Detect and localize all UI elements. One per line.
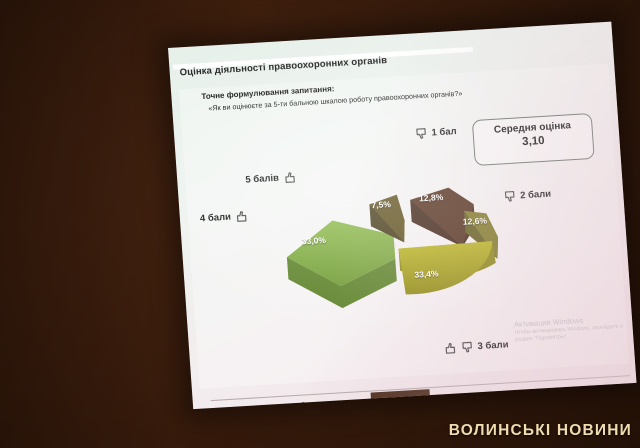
category-text: 4 бали	[200, 212, 232, 225]
category-label-1-bal: 1 бал	[414, 125, 457, 140]
category-text: 5 балів	[245, 173, 279, 186]
slide-body: Точне формулювання запитання: «Як ви оці…	[179, 64, 629, 389]
slice-label-4-bali: 33,0%	[301, 235, 326, 246]
category-text: 1 бал	[431, 126, 457, 138]
thumbs-up-icon	[234, 210, 248, 224]
slice-label-3-bali: 33,4%	[414, 268, 439, 279]
pie-chart: 33,0% 7,5% 12,8% 12,6% 33,4%	[271, 165, 533, 359]
category-label-3-bali: 3 бали	[443, 338, 509, 355]
average-score-box: Середня оцінка 3,10	[472, 113, 595, 166]
thumbs-down-icon	[460, 340, 474, 354]
projected-slide: 19 Оцінка діяльності правоохоронних орга…	[168, 22, 636, 409]
slide-surface: 19 Оцінка діяльності правоохоронних орга…	[168, 22, 636, 409]
news-watermark: ВОЛИНСЬКІ НОВИНИ	[449, 422, 632, 440]
category-label-4-bali: 4 бали	[200, 210, 249, 226]
thumbs-up-icon	[282, 171, 296, 185]
slice-label-2-bali: 12,6%	[462, 215, 487, 226]
thumbs-down-icon	[414, 127, 428, 141]
slice-label-1-bal: 12,8%	[419, 192, 444, 203]
pie-slice-3-bali	[398, 241, 497, 295]
thumbs-down-icon	[503, 190, 517, 204]
thumbs-up-icon	[443, 341, 457, 355]
category-text: 3 бали	[477, 339, 509, 352]
category-text: 2 бали	[520, 189, 552, 202]
category-label-2-bali: 2 бали	[503, 188, 552, 204]
pie-chart-svg	[271, 165, 533, 359]
slice-label-5-baliv: 7,5%	[371, 199, 391, 210]
